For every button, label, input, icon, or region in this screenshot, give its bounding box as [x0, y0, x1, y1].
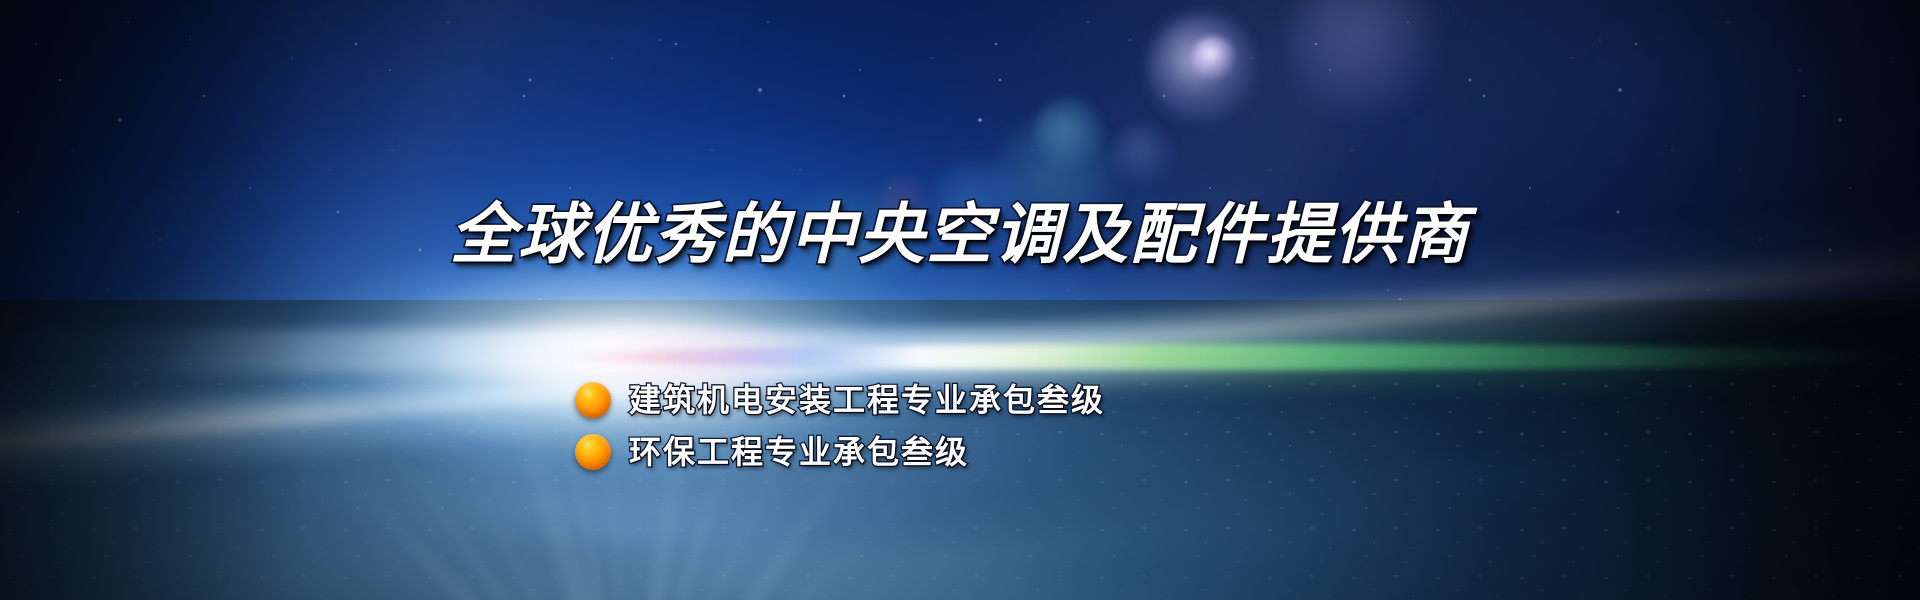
bullet-item-label: 环保工程专业承包叁级 [629, 436, 969, 468]
bullet-item-label: 建筑机电安装工程专业承包叁级 [629, 384, 1105, 416]
hero-banner: 全球优秀的中央空调及配件提供商 建筑机电安装工程专业承包叁级 环保工程专业承包叁… [0, 0, 1920, 600]
bullet-item: 环保工程专业承包叁级 [575, 434, 1105, 470]
orange-dot-icon [575, 434, 611, 470]
banner-bullet-list: 建筑机电安装工程专业承包叁级 环保工程专业承包叁级 [575, 382, 1105, 470]
orange-dot-icon [575, 382, 611, 418]
bullet-item: 建筑机电安装工程专业承包叁级 [575, 382, 1105, 418]
banner-content: 全球优秀的中央空调及配件提供商 建筑机电安装工程专业承包叁级 环保工程专业承包叁… [0, 0, 1920, 600]
banner-headline: 全球优秀的中央空调及配件提供商 [0, 202, 1920, 268]
